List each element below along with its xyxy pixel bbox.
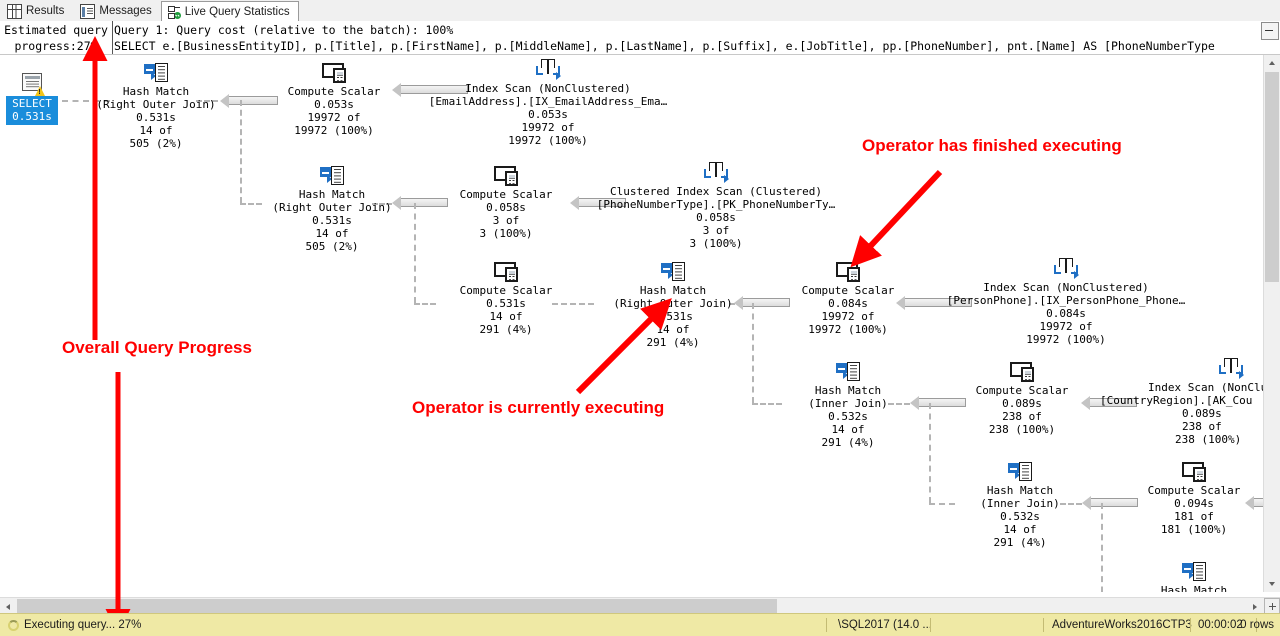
op-line: 0.053s <box>420 108 676 121</box>
op-line: 3 of <box>446 214 566 227</box>
select-result-icon <box>20 73 44 95</box>
op-line: Compute Scalar <box>1134 484 1254 497</box>
op-line: 291 (4%) <box>960 536 1080 549</box>
status-server-label: \SQL2017 (14.0 ... <box>838 619 932 631</box>
compute-scalar-icon <box>494 262 518 282</box>
plan-node-hash-match-6[interactable]: Hash Match <box>1134 562 1254 592</box>
tab-results[interactable]: Results <box>0 1 73 21</box>
op-line: Index Scan (NonClustered) <box>420 82 676 95</box>
live-query-statistics-icon <box>168 6 181 19</box>
plan-node-select[interactable]: SELECT 0.531s <box>6 73 58 125</box>
op-line: 19972 (100%) <box>788 323 908 336</box>
plan-node-hash-match-1[interactable]: Hash Match (Right Outer Join) 0.531s 14 … <box>96 63 216 150</box>
estimated-query-progress-line2: progress:27% <box>0 38 112 54</box>
status-bar: Executing query... 27% \SQL2017 (14.0 ..… <box>0 613 1280 636</box>
op-line: 0.531s <box>96 111 216 124</box>
op-line: 0.089s <box>1100 407 1264 420</box>
op-line: (Right Outer Join) <box>272 201 392 214</box>
op-line: 19972 of <box>938 320 1194 333</box>
zoom-to-fit-button[interactable] <box>1264 598 1280 614</box>
op-line: 0.532s <box>960 510 1080 523</box>
op-line: Compute Scalar <box>962 384 1082 397</box>
op-line: [PersonPhone].[IX_PersonPhone_Phone… <box>938 294 1194 307</box>
select-node-cost: 0.531s <box>12 110 52 123</box>
plan-node-index-scan-personphone[interactable]: Index Scan (NonClustered) [PersonPhone].… <box>938 258 1194 346</box>
results-pane-tabstrip: Results Messages Live Query Statistics <box>0 0 1280 22</box>
op-line: 19972 of <box>788 310 908 323</box>
plan-node-compute-scalar-3[interactable]: Compute Scalar 0.531s 14 of 291 (4%) <box>446 262 566 336</box>
op-line: 238 (100%) <box>1100 433 1264 446</box>
op-line: 0.094s <box>1134 497 1254 510</box>
op-line: Hash Match <box>960 484 1080 497</box>
op-line: [PhoneNumberType].[PK_PhoneNumberTy… <box>592 198 840 211</box>
op-line: 0.531s <box>272 214 392 227</box>
status-elapsed: 00:00:02 <box>1198 614 1243 636</box>
op-line: 238 (100%) <box>962 423 1082 436</box>
op-line: 505 (2%) <box>272 240 392 253</box>
plan-node-compute-scalar-2[interactable]: Compute Scalar 0.058s 3 of 3 (100%) <box>446 166 566 240</box>
plan-node-compute-scalar-5[interactable]: Compute Scalar 0.089s 238 of 238 (100%) <box>962 362 1082 436</box>
op-line: 0.532s <box>788 410 908 423</box>
op-line: 181 of <box>1134 510 1254 523</box>
plan-node-compute-scalar-1[interactable]: Compute Scalar 0.053s 19972 of 19972 (10… <box>274 63 394 137</box>
op-line: 19972 of <box>420 121 676 134</box>
plan-node-compute-scalar-4[interactable]: Compute Scalar 0.084s 19972 of 19972 (10… <box>788 262 908 336</box>
status-rows: 0 rows <box>1240 614 1274 636</box>
op-line: Hash Match <box>788 384 908 397</box>
connector-dashed <box>752 303 754 403</box>
op-line: Hash Match <box>1134 584 1254 592</box>
status-elapsed-label: 00:00:02 <box>1198 619 1243 631</box>
index-scan-icon <box>1218 358 1244 379</box>
spinner-icon <box>8 620 19 631</box>
hash-match-icon <box>1182 562 1206 582</box>
query-sql-line: SELECT e.[BusinessEntityID], p.[Title], … <box>114 38 1261 54</box>
connector-arrow <box>228 96 278 105</box>
op-line: 19972 (100%) <box>420 134 676 147</box>
compute-scalar-icon <box>836 262 860 282</box>
scroll-down-button[interactable] <box>1264 576 1280 592</box>
op-line: Index Scan (NonClustered) <box>938 281 1194 294</box>
op-line: Compute Scalar <box>274 85 394 98</box>
connector-dashed <box>414 303 436 305</box>
op-line: Hash Match <box>272 188 392 201</box>
annotation-currently-executing-label: Operator is currently executing <box>412 398 664 418</box>
estimated-query-progress-line1: Estimated query <box>0 22 112 38</box>
op-line: [EmailAddress].[IX_EmailAddress_Ema… <box>420 95 676 108</box>
op-line: Hash Match <box>613 284 733 297</box>
hash-match-icon <box>661 262 685 282</box>
query-cost-text: Query 1: Query cost (relative to the bat… <box>114 21 1261 55</box>
op-line: 181 (100%) <box>1134 523 1254 536</box>
hash-match-icon <box>320 166 344 186</box>
plan-node-clustered-index-scan-phonenumbertype[interactable]: Clustered Index Scan (Clustered) [PhoneN… <box>592 162 840 250</box>
op-line: Compute Scalar <box>788 284 908 297</box>
plan-node-compute-scalar-6[interactable]: Compute Scalar 0.094s 181 of 181 (100%) <box>1134 462 1254 536</box>
op-line: 14 of <box>96 124 216 137</box>
connector-arrow <box>742 298 790 307</box>
op-line: 0.084s <box>938 307 1194 320</box>
query-header-collapse-button[interactable] <box>1261 22 1279 40</box>
tab-live-query-statistics-label: Live Query Statistics <box>185 2 290 22</box>
op-line: 19972 of <box>274 111 394 124</box>
select-node-label: SELECT <box>12 97 52 110</box>
tab-messages[interactable]: Messages <box>73 1 160 21</box>
op-line: [CountryRegion].[AK_Cou <box>1100 394 1264 407</box>
op-line: 291 (4%) <box>613 336 733 349</box>
connector-dashed <box>240 203 262 205</box>
plan-node-hash-match-5[interactable]: Hash Match (Inner Join) 0.532s 14 of 291… <box>960 462 1080 549</box>
canvas-vertical-scrollbar[interactable] <box>1263 55 1280 592</box>
op-line: (Inner Join) <box>960 497 1080 510</box>
plan-node-hash-match-2[interactable]: Hash Match (Right Outer Join) 0.531s 14 … <box>272 166 392 253</box>
op-line: 0.084s <box>788 297 908 310</box>
op-line: 0.058s <box>592 211 840 224</box>
status-server: \SQL2017 (14.0 ... <box>838 614 932 636</box>
plan-node-index-scan-countryregion[interactable]: Index Scan (NonClu [CountryRegion].[AK_C… <box>1100 358 1264 446</box>
op-line: 19972 (100%) <box>274 124 394 137</box>
hash-match-icon <box>836 362 860 382</box>
connector-dashed <box>1101 503 1103 592</box>
tab-messages-label: Messages <box>99 2 151 21</box>
tab-results-label: Results <box>26 2 64 21</box>
op-line: 291 (4%) <box>788 436 908 449</box>
op-line: Compute Scalar <box>446 188 566 201</box>
grid-icon <box>7 4 22 19</box>
index-scan-icon <box>535 59 561 80</box>
connector-arrow <box>400 198 448 207</box>
status-database-label: AdventureWorks2016CTP3 <box>1052 619 1192 631</box>
query-header: Estimated query progress:27% Query 1: Qu… <box>0 21 1280 55</box>
connector-dashed <box>240 100 242 203</box>
op-line: 19972 (100%) <box>938 333 1194 346</box>
op-line: 238 of <box>962 410 1082 423</box>
hash-match-icon <box>1008 462 1032 482</box>
op-line: 0.053s <box>274 98 394 111</box>
scroll-left-button[interactable] <box>0 598 16 614</box>
scroll-right-button[interactable] <box>1247 598 1263 614</box>
status-rows-label: 0 rows <box>1240 619 1274 631</box>
plan-node-index-scan-emailaddress[interactable]: Index Scan (NonClustered) [EmailAddress]… <box>420 59 676 147</box>
op-line: 0.058s <box>446 201 566 214</box>
op-line: Clustered Index Scan (Clustered) <box>592 185 840 198</box>
tab-live-query-statistics[interactable]: Live Query Statistics <box>161 1 299 22</box>
op-line: 291 (4%) <box>446 323 566 336</box>
op-line: Compute Scalar <box>446 284 566 297</box>
index-scan-icon <box>1053 258 1079 279</box>
op-line: 3 (100%) <box>592 237 840 250</box>
connector-dashed <box>929 403 931 503</box>
connector-dashed <box>752 403 782 405</box>
op-line: 3 of <box>592 224 840 237</box>
op-line: 14 of <box>788 423 908 436</box>
hash-match-icon <box>144 63 168 83</box>
estimated-query-progress: Estimated query progress:27% <box>0 21 113 54</box>
op-line: 14 of <box>272 227 392 240</box>
compute-scalar-icon <box>1182 462 1206 482</box>
op-line: (Inner Join) <box>788 397 908 410</box>
scroll-up-button[interactable] <box>1264 55 1280 71</box>
status-executing-label: Executing query... 27% <box>24 619 141 631</box>
annotation-overall-progress-label: Overall Query Progress <box>62 338 252 358</box>
op-line: (Right Outer Join) <box>96 98 216 111</box>
op-line: 14 of <box>446 310 566 323</box>
op-line: (Right Outer Join) <box>613 297 733 310</box>
canvas-horizontal-scrollbar[interactable] <box>0 597 1280 614</box>
connector-arrow <box>1090 498 1138 507</box>
op-line: 14 of <box>613 323 733 336</box>
status-executing: Executing query... 27% <box>8 614 141 636</box>
plan-node-hash-match-3[interactable]: Hash Match (Right Outer Join) 0.531s 14 … <box>613 262 733 349</box>
op-line: 0.531s <box>446 297 566 310</box>
compute-scalar-icon <box>494 166 518 186</box>
compute-scalar-icon <box>1010 362 1034 382</box>
op-line: 14 of <box>960 523 1080 536</box>
connector-dashed <box>414 203 416 303</box>
plan-node-hash-match-4[interactable]: Hash Match (Inner Join) 0.532s 14 of 291… <box>788 362 908 449</box>
op-line: Hash Match <box>96 85 216 98</box>
vertical-scroll-thumb[interactable] <box>1265 72 1279 282</box>
select-node-badge: SELECT 0.531s <box>6 96 58 125</box>
annotation-finished-label: Operator has finished executing <box>862 136 1122 156</box>
op-line: 505 (2%) <box>96 137 216 150</box>
connector-arrow <box>918 398 966 407</box>
connector-dashed <box>929 503 955 505</box>
compute-scalar-icon <box>322 63 346 83</box>
op-line: 0.089s <box>962 397 1082 410</box>
op-line: 0.531s <box>613 310 733 323</box>
op-line: Index Scan (NonClu <box>1100 381 1264 394</box>
messages-icon <box>80 4 95 19</box>
op-line: 238 of <box>1100 420 1264 433</box>
op-line: 3 (100%) <box>446 227 566 240</box>
horizontal-scroll-thumb[interactable] <box>17 599 777 613</box>
query-cost-line: Query 1: Query cost (relative to the bat… <box>114 22 1261 38</box>
status-database: AdventureWorks2016CTP3 <box>1052 614 1192 636</box>
index-scan-icon <box>703 162 729 183</box>
